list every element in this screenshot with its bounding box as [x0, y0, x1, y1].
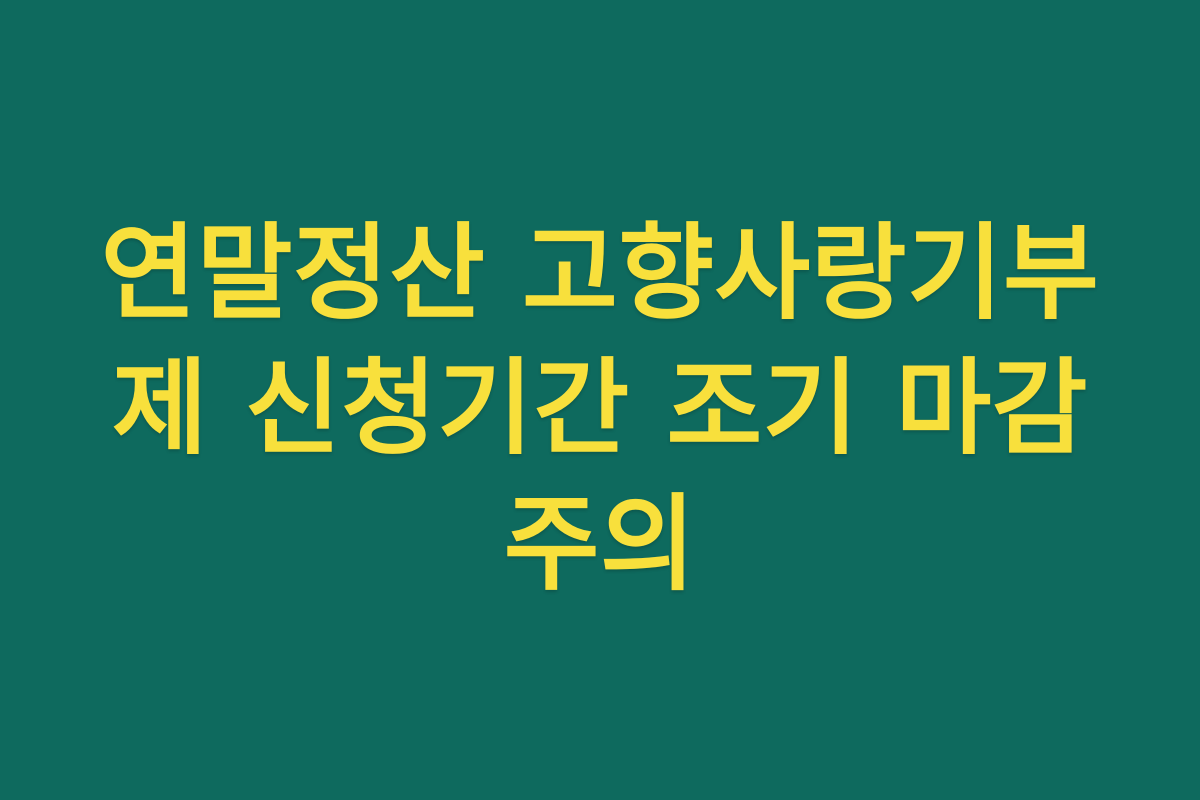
headline-text: 연말정산 고향사랑기부 제 신청기간 조기 마감 주의 — [96, 206, 1104, 612]
headline-line-1: 연말정산 고향사랑기부 — [96, 206, 1104, 341]
headline-line-2: 제 신청기간 조기 마감 — [96, 341, 1104, 476]
headline-line-3: 주의 — [96, 477, 1104, 612]
banner-canvas: 연말정산 고향사랑기부 제 신청기간 조기 마감 주의 — [0, 0, 1200, 800]
